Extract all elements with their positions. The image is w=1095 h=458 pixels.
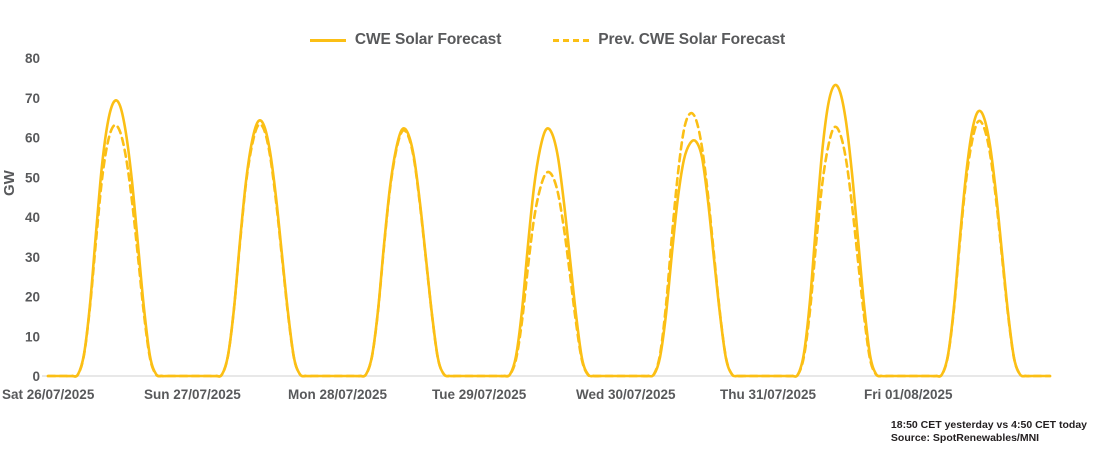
- y-axis-tick-label: 50: [25, 170, 40, 185]
- footnote-timestamp: 18:50 CET yesterday vs 4:50 CET today: [891, 419, 1087, 432]
- solar-forecast-chart: CWE Solar Forecast Prev. CWE Solar Forec…: [0, 0, 1095, 458]
- x-axis-tick-label: Tue 29/07/2025: [432, 387, 527, 402]
- y-axis-tick-label: 70: [25, 91, 40, 106]
- y-axis-tick-label: 80: [25, 51, 40, 66]
- y-axis-tick-label: 60: [25, 131, 40, 146]
- y-axis-tick-label: 30: [25, 250, 40, 265]
- y-axis-tick-label: 0: [32, 369, 40, 384]
- x-axis-ticks: Sat 26/07/2025Sun 27/07/2025Mon 28/07/20…: [2, 387, 953, 402]
- x-axis-tick-label: Wed 30/07/2025: [576, 387, 676, 402]
- x-axis-tick-label: Sat 26/07/2025: [2, 387, 95, 402]
- y-axis-tick-label: 20: [25, 290, 40, 305]
- y-axis-tick-label: 40: [25, 210, 40, 225]
- x-axis-tick-label: Fri 01/08/2025: [864, 387, 953, 402]
- chart-footnote: 18:50 CET yesterday vs 4:50 CET today So…: [891, 419, 1087, 446]
- series-line-cwe-solar-forecast: [48, 85, 1050, 377]
- y-axis-tick-label: 10: [25, 329, 40, 344]
- x-axis-tick-label: Thu 31/07/2025: [720, 387, 817, 402]
- series-line-prev-cwe-solar-forecast: [48, 113, 1050, 376]
- y-axis-ticks: 01020304050607080: [25, 51, 40, 384]
- footnote-source: Source: SpotRenewables/MNI: [891, 432, 1087, 445]
- plot-area: 01020304050607080 Sat 26/07/2025Sun 27/0…: [0, 0, 1095, 458]
- series-layer: [48, 85, 1050, 377]
- x-axis-tick-label: Sun 27/07/2025: [144, 387, 241, 402]
- x-axis-tick-label: Mon 28/07/2025: [288, 387, 388, 402]
